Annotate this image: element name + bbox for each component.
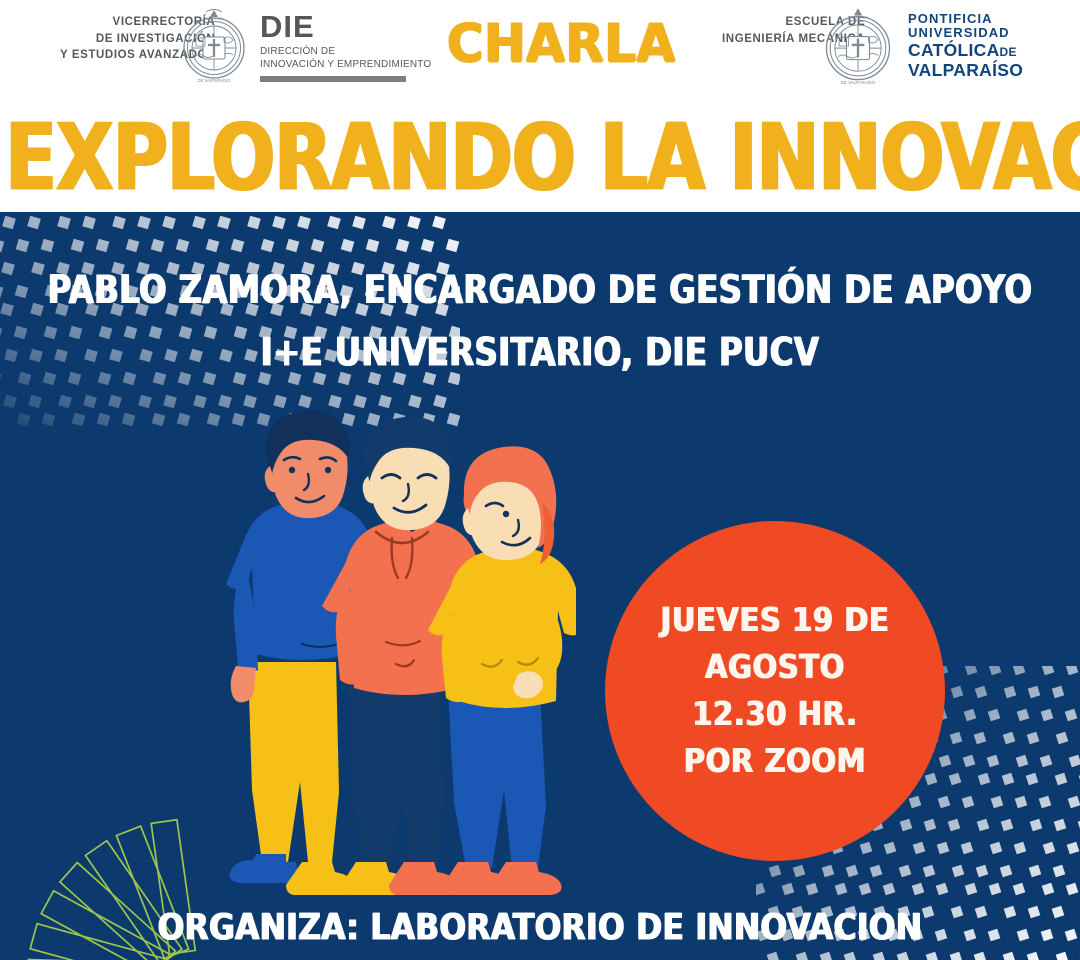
pucv-line-3: CATÓLICADE (908, 41, 1023, 61)
pucv-de: DE (1000, 45, 1017, 59)
date-line-4: POR ZOOM (684, 735, 866, 788)
pucv-line-1: PONTIFICIA (908, 12, 1023, 27)
die-subtitle: DIRECCIÓN DE INNOVACIÓN Y EMPRENDIMIENTO (260, 45, 431, 72)
date-badge: JUEVES 19 DE AGOSTO 12.30 HR. POR ZOOM (605, 521, 945, 861)
die-subtitle-line-2: INNOVACIÓN Y EMPRENDIMIENTO (260, 58, 431, 72)
svg-text:DE VALPARAÍSO: DE VALPARAÍSO (198, 78, 232, 83)
three-friends-illustration (196, 392, 576, 912)
svg-text:PONTIFICIA: PONTIFICIA (204, 17, 224, 21)
pucv-seal-icon-secondary: PONTIFICIA DE VALPARAÍSO (818, 4, 898, 88)
logo-pucv: PONTIFICIA DE VALPARAÍSO PONTIFICIA UNIV… (818, 4, 1023, 88)
event-poster: VICERRECTORÍA DE INVESTIGACIÓN Y ESTUDIO… (0, 0, 1080, 960)
die-acronym: DIE (260, 11, 431, 42)
speaker-line-2: I+E UNIVERSITARIO, DIE PUCV (11, 321, 1069, 384)
speaker-line-1: PABLO ZAMORA, ENCARGADO DE GESTIÓN DE AP… (48, 266, 1033, 312)
date-line-1: JUEVES 19 DE (661, 594, 890, 647)
event-kicker: CHARLA (447, 13, 676, 75)
speaker-info: PABLO ZAMORA, ENCARGADO DE GESTIÓN DE AP… (11, 258, 1069, 384)
logo-die: PONTIFICIA DE VALPARAÍSO DIE DIRECCIÓN D… (178, 6, 431, 86)
pucv-seal-icon: PONTIFICIA DE VALPARAÍSO (178, 6, 250, 86)
pucv-wordmark: PONTIFICIA UNIVERSIDAD CATÓLICADE VALPAR… (908, 12, 1023, 80)
die-logo-text: DIE DIRECCIÓN DE INNOVACIÓN Y EMPRENDIMI… (260, 11, 431, 82)
die-underline (260, 76, 406, 82)
page-title: EXPLORANDO LA INNOVACIÓN (5, 103, 1074, 212)
die-subtitle-line-1: DIRECCIÓN DE (260, 45, 431, 59)
pucv-line-2: UNIVERSIDAD (908, 26, 1023, 41)
pucv-line-4: VALPARAÍSO (908, 61, 1023, 81)
date-line-3: 12.30 HR. (692, 688, 857, 741)
svg-text:PONTIFICIA: PONTIFICIA (848, 16, 869, 20)
date-line-2: AGOSTO (705, 641, 845, 694)
svg-text:DE VALPARAÍSO: DE VALPARAÍSO (841, 80, 876, 85)
pucv-catolica: CATÓLICA (908, 40, 1000, 60)
header-band: VICERRECTORÍA DE INVESTIGACIÓN Y ESTUDIO… (0, 0, 1080, 212)
organizer-text: ORGANIZA: LABORATORIO DE INNOVACION (11, 905, 1069, 948)
